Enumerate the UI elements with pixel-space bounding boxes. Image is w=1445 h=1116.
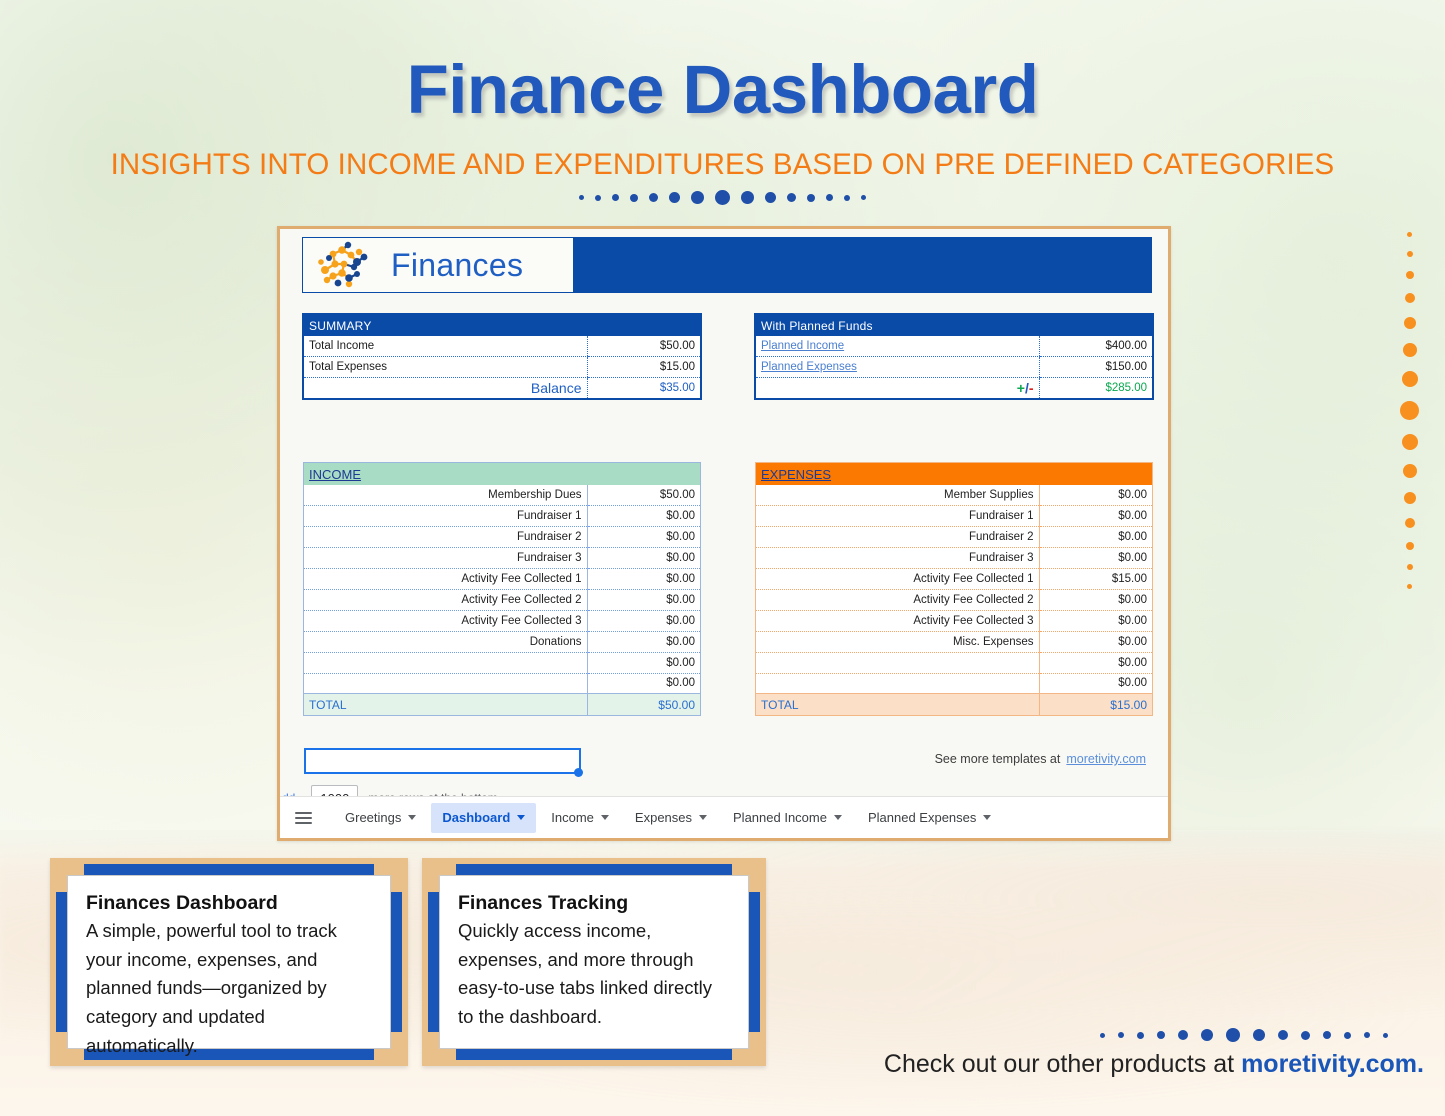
income-row-value: $0.00 bbox=[587, 652, 700, 673]
card-title: Finances Dashboard bbox=[86, 892, 372, 915]
header-dot-decoration bbox=[0, 190, 1445, 205]
templates-note: See more templates atmoretivity.com bbox=[935, 752, 1146, 766]
expenses-row-label: Member Supplies bbox=[756, 485, 1039, 506]
card-bar-top bbox=[84, 864, 374, 875]
templates-note-text: See more templates at bbox=[935, 752, 1061, 766]
income-row-label bbox=[304, 652, 587, 673]
card-content: Finances Tracking Quickly access income,… bbox=[439, 875, 749, 1049]
spreadsheet-frame: Finances SUMMARY Total Income $50.00 Tot… bbox=[277, 226, 1171, 841]
expenses-row-label: Misc. Expenses bbox=[756, 631, 1039, 652]
income-row-value: $50.00 bbox=[587, 485, 700, 506]
expenses-row-value: $0.00 bbox=[1039, 589, 1152, 610]
chevron-down-icon[interactable] bbox=[601, 815, 609, 820]
expenses-row-label: Fundraiser 2 bbox=[756, 527, 1039, 548]
expenses-total-label: TOTAL bbox=[756, 694, 1039, 715]
expenses-header-spacer bbox=[1039, 463, 1152, 485]
table-row[interactable]: Activity Fee Collected 2$0.00 bbox=[304, 589, 700, 610]
expenses-row-value: $15.00 bbox=[1039, 569, 1152, 590]
table-row[interactable]: Fundraiser 3$0.00 bbox=[304, 548, 700, 569]
income-row-label: Fundraiser 1 bbox=[304, 506, 587, 527]
footer-brand[interactable]: moretivity.com. bbox=[1241, 1050, 1424, 1078]
income-row-value: $0.00 bbox=[587, 527, 700, 548]
spreadsheet-canvas: Finances SUMMARY Total Income $50.00 Tot… bbox=[280, 229, 1168, 787]
expenses-header-row: EXPENSES bbox=[756, 463, 1152, 485]
chevron-down-icon[interactable] bbox=[983, 815, 991, 820]
table-row[interactable]: Fundraiser 2$0.00 bbox=[756, 527, 1152, 548]
income-row-value: $0.00 bbox=[587, 569, 700, 590]
expenses-total-row[interactable]: TOTAL$15.00 bbox=[756, 694, 1152, 715]
expenses-row-value: $0.00 bbox=[1039, 631, 1152, 652]
planned-income-label[interactable]: Planned Income bbox=[756, 336, 1039, 357]
table-row[interactable]: Fundraiser 3$0.00 bbox=[756, 548, 1152, 569]
card-body: A simple, powerful tool to track your in… bbox=[86, 917, 372, 1060]
summary-table: SUMMARY Total Income $50.00 Total Expens… bbox=[304, 315, 700, 398]
income-row-label: Fundraiser 3 bbox=[304, 548, 587, 569]
income-row-label: Donations bbox=[304, 631, 587, 652]
summary-row-label: Total Income bbox=[304, 336, 587, 357]
expenses-row-value: $0.00 bbox=[1039, 652, 1152, 673]
income-table: INCOMEMembership Dues$50.00Fundraiser 1$… bbox=[304, 463, 700, 715]
footer-text: Check out our other products at bbox=[884, 1050, 1241, 1078]
planned-net-row[interactable]: +/- $285.00 bbox=[756, 378, 1152, 399]
expenses-row-value: $0.00 bbox=[1039, 506, 1152, 527]
income-row-value: $0.00 bbox=[587, 631, 700, 652]
income-row-value: $0.00 bbox=[587, 589, 700, 610]
planned-expenses-label[interactable]: Planned Expenses bbox=[756, 357, 1039, 378]
income-row-label: Activity Fee Collected 1 bbox=[304, 569, 587, 590]
planned-header-label: With Planned Funds bbox=[756, 315, 1152, 336]
table-row[interactable]: Activity Fee Collected 1$15.00 bbox=[756, 569, 1152, 590]
table-row[interactable]: Activity Fee Collected 3$0.00 bbox=[756, 610, 1152, 631]
table-row[interactable]: $0.00 bbox=[756, 652, 1152, 673]
tab-label: Expenses bbox=[635, 810, 692, 825]
income-row-label: Activity Fee Collected 2 bbox=[304, 589, 587, 610]
tab-label: Greetings bbox=[345, 810, 401, 825]
table-row[interactable]: Membership Dues$50.00 bbox=[304, 485, 700, 506]
card-bar-right bbox=[749, 892, 760, 1032]
selected-cell[interactable] bbox=[304, 748, 581, 774]
tab-planned-expenses[interactable]: Planned Expenses bbox=[857, 803, 1002, 833]
expenses-row-value: $0.00 bbox=[1039, 610, 1152, 631]
logo-text: Finances bbox=[391, 247, 523, 284]
table-row[interactable]: Activity Fee Collected 3$0.00 bbox=[304, 610, 700, 631]
tab-label: Dashboard bbox=[442, 810, 510, 825]
expenses-header-label: EXPENSES bbox=[756, 463, 1039, 485]
expenses-row-value: $0.00 bbox=[1039, 673, 1152, 694]
income-header-spacer bbox=[587, 463, 700, 485]
card-content: Finances Dashboard A simple, powerful to… bbox=[67, 875, 391, 1049]
table-row[interactable]: Total Expenses $15.00 bbox=[304, 357, 700, 378]
income-header-label: INCOME bbox=[304, 463, 587, 485]
side-dot-decoration bbox=[1400, 232, 1419, 589]
summary-header-row: SUMMARY bbox=[304, 315, 700, 336]
page-title: Finance Dashboard bbox=[0, 50, 1445, 129]
income-row-value: $0.00 bbox=[587, 610, 700, 631]
sheet-tab-bar: GreetingsDashboardIncomeExpensesPlanned … bbox=[280, 796, 1168, 838]
expenses-row-label: Fundraiser 3 bbox=[756, 548, 1039, 569]
chevron-down-icon[interactable] bbox=[517, 815, 525, 820]
planned-header-row: With Planned Funds bbox=[756, 315, 1152, 336]
dot-cluster-logo-icon bbox=[311, 240, 385, 290]
income-row-label: Fundraiser 2 bbox=[304, 527, 587, 548]
income-row-value: $0.00 bbox=[587, 506, 700, 527]
table-row[interactable]: Planned Expenses $150.00 bbox=[756, 357, 1152, 378]
card-title: Finances Tracking bbox=[458, 892, 730, 915]
expenses-row-label: Activity Fee Collected 3 bbox=[756, 610, 1039, 631]
tab-greetings[interactable]: Greetings bbox=[334, 803, 427, 833]
feature-card-tracking: Finances Tracking Quickly access income,… bbox=[422, 858, 766, 1066]
card-bar-left bbox=[56, 892, 67, 1032]
logo-box: Finances bbox=[302, 237, 574, 293]
card-body: Quickly access income, expenses, and mor… bbox=[458, 917, 730, 1032]
planned-income-link[interactable]: Planned Income bbox=[761, 340, 844, 352]
income-total-row[interactable]: TOTAL$50.00 bbox=[304, 694, 700, 715]
income-row-value: $0.00 bbox=[587, 548, 700, 569]
table-row[interactable]: Activity Fee Collected 2$0.00 bbox=[756, 589, 1152, 610]
expenses-row-label: Activity Fee Collected 2 bbox=[756, 589, 1039, 610]
tab-label: Planned Expenses bbox=[868, 810, 976, 825]
table-row[interactable]: $0.00 bbox=[304, 652, 700, 673]
table-row[interactable]: Total Income $50.00 bbox=[304, 336, 700, 357]
expenses-table: EXPENSESMember Supplies$0.00Fundraiser 1… bbox=[756, 463, 1152, 715]
feature-card-dashboard: Finances Dashboard A simple, powerful to… bbox=[50, 858, 408, 1066]
card-bar-left bbox=[428, 892, 439, 1032]
planned-funds-table: With Planned Funds Planned Income $400.0… bbox=[756, 315, 1152, 398]
summary-row-value: $15.00 bbox=[587, 357, 700, 378]
expenses-row-value: $0.00 bbox=[1039, 527, 1152, 548]
tab-income[interactable]: Income bbox=[540, 803, 620, 833]
summary-header-label: SUMMARY bbox=[304, 315, 700, 336]
expenses-row-label: Fundraiser 1 bbox=[756, 506, 1039, 527]
summary-row-value: $50.00 bbox=[587, 336, 700, 357]
moretivity-link[interactable]: moretivity.com bbox=[1066, 752, 1146, 766]
tab-planned-income[interactable]: Planned Income bbox=[722, 803, 853, 833]
chevron-down-icon[interactable] bbox=[408, 815, 416, 820]
footer-line: Check out our other products at moretivi… bbox=[0, 1050, 1424, 1079]
planned-income-value: $400.00 bbox=[1039, 336, 1152, 357]
table-row[interactable]: $0.00 bbox=[756, 673, 1152, 694]
chevron-down-icon[interactable] bbox=[834, 815, 842, 820]
table-row[interactable]: Member Supplies$0.00 bbox=[756, 485, 1152, 506]
page-subtitle: INSIGHTS INTO INCOME AND EXPENDITURES BA… bbox=[0, 148, 1445, 182]
expenses-row-label: Activity Fee Collected 1 bbox=[756, 569, 1039, 590]
table-row[interactable]: Fundraiser 1$0.00 bbox=[304, 506, 700, 527]
planned-net-value: $285.00 bbox=[1039, 378, 1152, 399]
tab-list: GreetingsDashboardIncomeExpensesPlanned … bbox=[334, 803, 1002, 833]
income-total-value: $50.00 bbox=[587, 694, 700, 715]
summary-balance-row[interactable]: Balance $35.00 bbox=[304, 378, 700, 399]
planned-expenses-value: $150.00 bbox=[1039, 357, 1152, 378]
summary-balance-value: $35.00 bbox=[587, 378, 700, 399]
income-row-label bbox=[304, 673, 587, 694]
cell-fill-handle[interactable] bbox=[574, 768, 583, 777]
table-row[interactable]: Fundraiser 2$0.00 bbox=[304, 527, 700, 548]
sheet-banner: Finances bbox=[302, 237, 1152, 293]
tab-dashboard[interactable]: Dashboard bbox=[431, 803, 536, 833]
planned-net-label: +/- bbox=[756, 378, 1039, 399]
chevron-down-icon[interactable] bbox=[699, 815, 707, 820]
card-bar-top bbox=[456, 864, 732, 875]
expenses-row-value: $0.00 bbox=[1039, 548, 1152, 569]
income-total-label: TOTAL bbox=[304, 694, 587, 715]
summary-balance-label: Balance bbox=[304, 378, 587, 399]
table-row[interactable]: Donations$0.00 bbox=[304, 631, 700, 652]
income-header-row: INCOME bbox=[304, 463, 700, 485]
expenses-row-label bbox=[756, 652, 1039, 673]
expenses-row-label bbox=[756, 673, 1039, 694]
tab-label: Income bbox=[551, 810, 594, 825]
expenses-row-value: $0.00 bbox=[1039, 485, 1152, 506]
hamburger-icon[interactable] bbox=[295, 809, 312, 827]
income-row-label: Membership Dues bbox=[304, 485, 587, 506]
planned-expenses-link[interactable]: Planned Expenses bbox=[761, 361, 857, 373]
tab-label: Planned Income bbox=[733, 810, 827, 825]
table-row[interactable]: $0.00 bbox=[304, 673, 700, 694]
footer-dot-decoration bbox=[1100, 1028, 1388, 1042]
table-row[interactable]: Planned Income $400.00 bbox=[756, 336, 1152, 357]
income-row-value: $0.00 bbox=[587, 673, 700, 694]
table-row[interactable]: Activity Fee Collected 1$0.00 bbox=[304, 569, 700, 590]
expenses-total-value: $15.00 bbox=[1039, 694, 1152, 715]
tab-expenses[interactable]: Expenses bbox=[624, 803, 718, 833]
table-row[interactable]: Fundraiser 1$0.00 bbox=[756, 506, 1152, 527]
summary-row-label: Total Expenses bbox=[304, 357, 587, 378]
card-bar-right bbox=[391, 892, 402, 1032]
income-row-label: Activity Fee Collected 3 bbox=[304, 610, 587, 631]
table-row[interactable]: Misc. Expenses$0.00 bbox=[756, 631, 1152, 652]
